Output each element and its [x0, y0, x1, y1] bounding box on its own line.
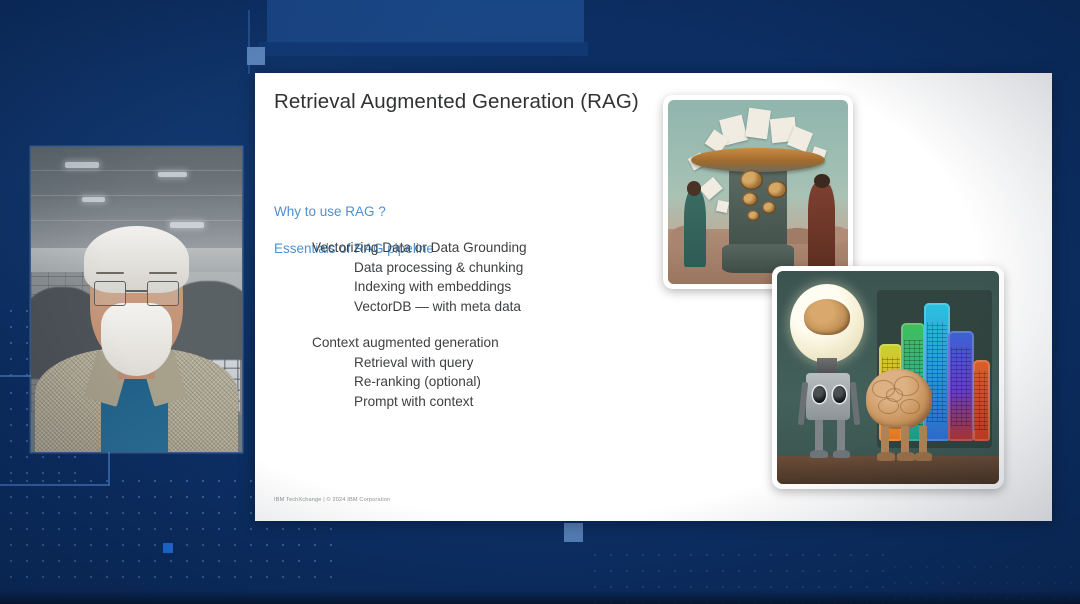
illustration-panel: [948, 331, 973, 441]
slide-title: Retrieval Augmented Generation (RAG): [274, 90, 639, 114]
illustration-paper: [745, 108, 770, 140]
illustration-machine-disc: [691, 148, 824, 172]
slide-section-context-augmented: Context augmented generation Retrieval w…: [312, 333, 499, 411]
bulb-robot-and-brain-illustration: [772, 266, 1004, 489]
section-item: VectorDB — with meta data: [354, 297, 527, 316]
section-item: Re-ranking (optional): [354, 372, 499, 391]
slide-section-vectorizing: Vectorizing Data or Data Grounding Data …: [312, 238, 527, 316]
video-glasses-bridge: [126, 290, 147, 292]
presenter-video-tile[interactable]: [31, 147, 242, 452]
illustration-brain-foot: [877, 452, 895, 461]
illustration-panel: [924, 303, 949, 442]
illustration-walking-brain: [866, 369, 933, 429]
illustration-person-right-head: [814, 174, 830, 189]
illustration-robot-eye-left: [813, 386, 826, 403]
section-item: Retrieval with query: [354, 353, 499, 372]
presentation-slide[interactable]: Retrieval Augmented Generation (RAG) Why…: [255, 73, 1052, 521]
accent-line-horizontal-box: [0, 484, 110, 486]
illustration-robot-eye-right: [833, 386, 846, 403]
illustration-gear: [767, 181, 787, 198]
accent-square-bright: [163, 543, 173, 553]
section-item: Data processing & chunking: [354, 258, 527, 277]
section-item: Indexing with embeddings: [354, 277, 527, 296]
illustration-bulb-brain: [804, 299, 851, 335]
illustration-robot-foot: [810, 450, 828, 459]
illustration-brain-foot: [897, 452, 915, 461]
video-glasses-lens-left: [94, 281, 126, 305]
illustration-brain-leg: [901, 426, 909, 454]
illustration-panel: [973, 360, 990, 442]
slide-link-why-use-rag[interactable]: Why to use RAG ?: [274, 204, 386, 219]
accent-square-top: [247, 47, 265, 65]
illustration-brain-leg: [919, 426, 927, 454]
illustration-robot-leg: [837, 420, 845, 452]
video-glasses-lens-right: [147, 281, 179, 305]
accent-line-vertical-box: [108, 452, 110, 485]
machine-shredding-documents-illustration: [663, 95, 853, 289]
illustration-robot-leg: [815, 420, 823, 452]
illustration-person-left: [684, 190, 706, 267]
illustration-person-right: [808, 183, 835, 269]
illustration-person-left-head: [687, 181, 701, 196]
background-bottom-shade: [0, 590, 1080, 604]
video-eyebrow-left: [96, 272, 123, 274]
illustration-brain-leg: [881, 426, 889, 454]
video-presenter-beard: [101, 303, 173, 376]
section-heading: Vectorizing Data or Data Grounding: [312, 238, 527, 258]
video-eyebrow-right: [149, 272, 176, 274]
section-item: Prompt with context: [354, 392, 499, 411]
illustration-paper: [716, 200, 729, 213]
illustration-gear: [762, 201, 776, 214]
section-heading: Context augmented generation: [312, 333, 499, 353]
illustration-gear: [742, 192, 758, 206]
illustration-brain-foot: [915, 452, 933, 461]
screen-share-view: Retrieval Augmented Generation (RAG) Why…: [0, 0, 1080, 604]
accent-square-bottom: [564, 523, 583, 542]
illustration-robot-foot: [833, 450, 851, 459]
slide-footer: IBM TechXchange | © 2024 IBM Corporation: [274, 497, 390, 503]
background-band-top-under: [258, 42, 588, 56]
background-band-top: [267, 0, 584, 44]
